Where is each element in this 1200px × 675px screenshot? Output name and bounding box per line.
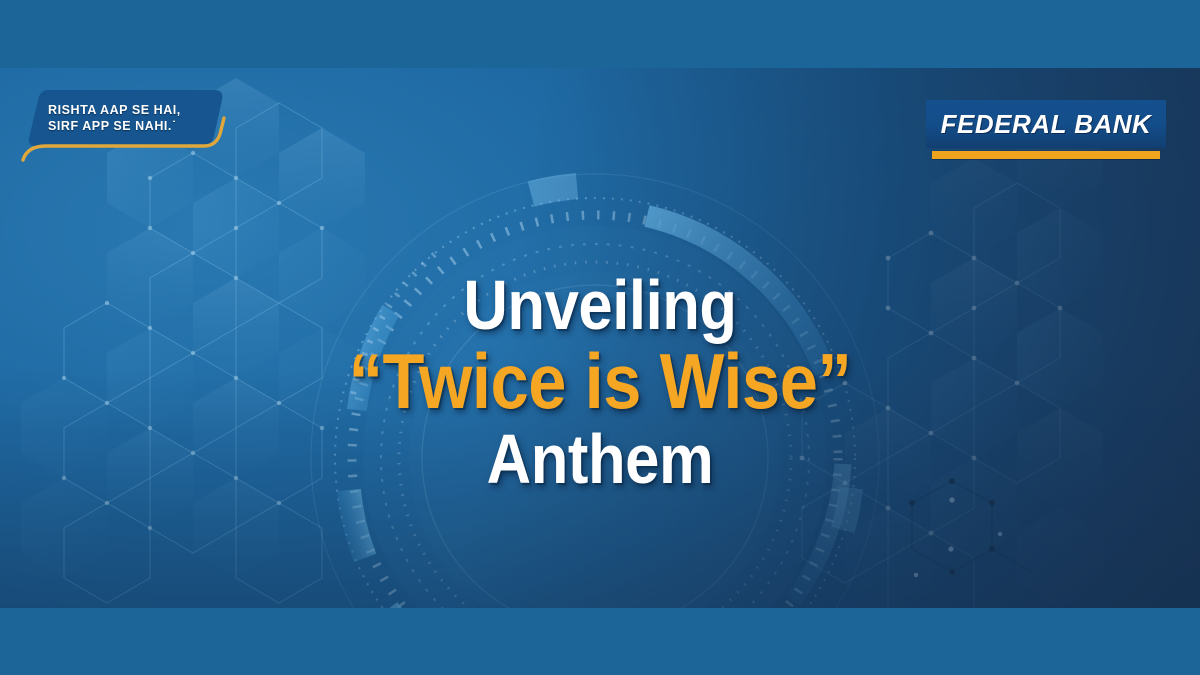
federal-bank-logo: FEDERAL BANK [926, 100, 1166, 160]
tagline-badge: RISHTA AAP SE HAI, SIRF APP SE NAHI.˙ [18, 88, 228, 164]
logo-wordmark: FEDERAL BANK [926, 100, 1166, 148]
letterbox-bar-top [0, 0, 1200, 68]
banner-stage: RISHTA AAP SE HAI, SIRF APP SE NAHI.˙ FE… [0, 0, 1200, 675]
headline-line-3: Anthem [72, 424, 1128, 494]
tagline-text: RISHTA AAP SE HAI, SIRF APP SE NAHI.˙ [48, 103, 218, 134]
headline-line-2: “Twice is Wise” [72, 342, 1128, 420]
logo-underline [932, 151, 1160, 159]
letterbox-bar-bottom [0, 608, 1200, 675]
headline: Unveiling “Twice is Wise” Anthem [0, 270, 1200, 494]
headline-line-1: Unveiling [72, 270, 1128, 340]
